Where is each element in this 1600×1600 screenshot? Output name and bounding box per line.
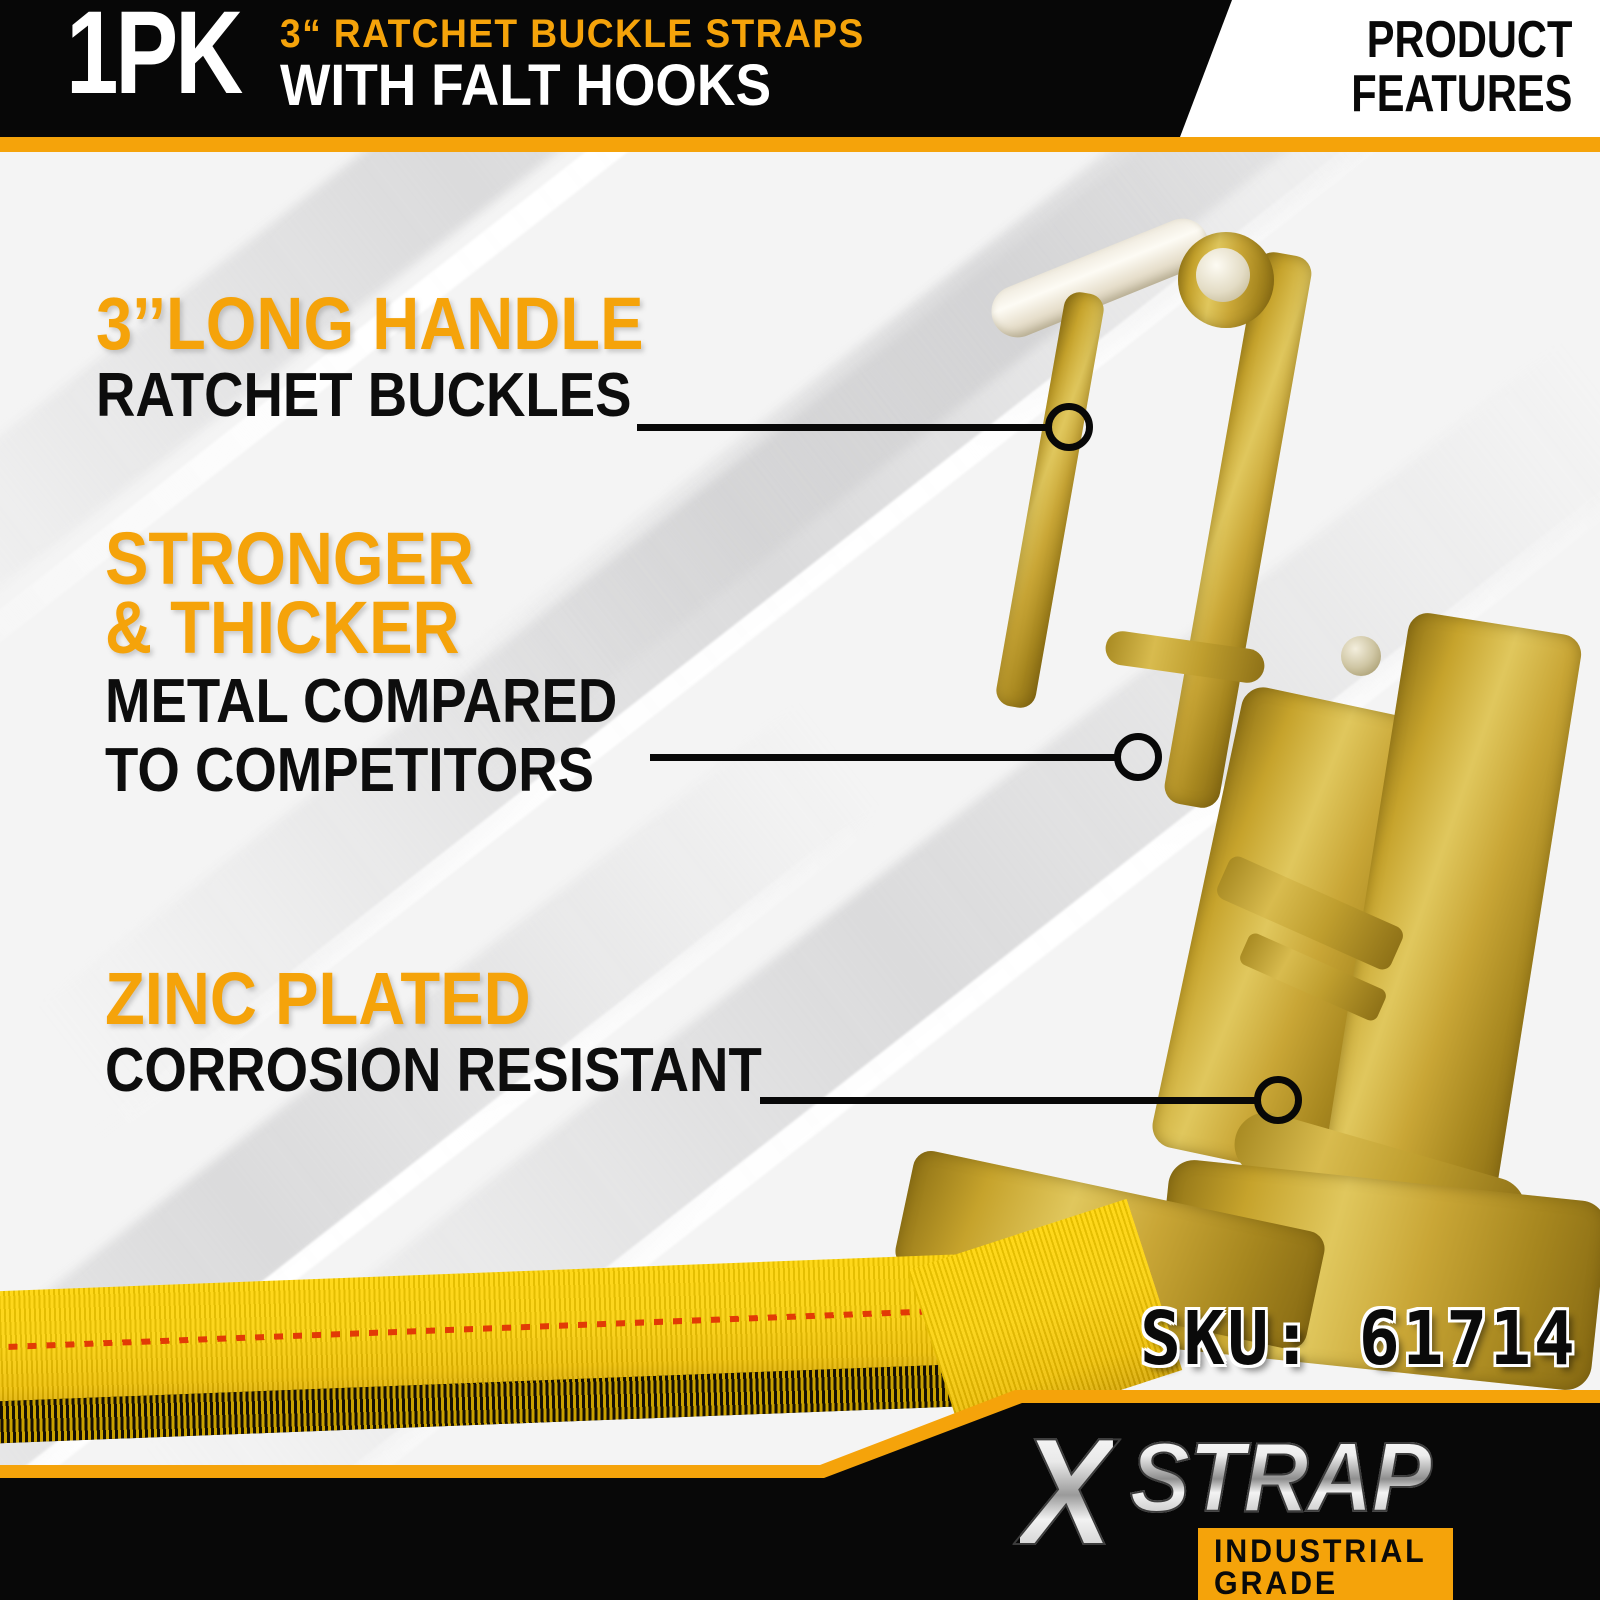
feature-subline-line-2: TO COMPETITORS	[105, 742, 617, 801]
feature-block-long-handle: 3’’LONG HANDLE RATCHET BUCKLES	[96, 290, 718, 426]
callout-leader-line	[637, 424, 1049, 431]
feature-subline: RATCHET BUCKLES	[96, 367, 644, 426]
feature-headline: ZINC PLATED	[105, 965, 762, 1034]
header-section-label-line-1: PRODUCT	[1351, 14, 1572, 68]
footer-brand-band: X STRAP INDUSTRIAL GRADE	[0, 1390, 1600, 1600]
feature-subline: CORROSION RESISTANT	[105, 1042, 762, 1101]
callout-leader-line	[760, 1097, 1260, 1104]
logo-tagline-bar: INDUSTRIAL GRADE	[1198, 1528, 1453, 1600]
header-section-label-line-2: FEATURES	[1351, 68, 1572, 122]
header-bar: 1PK 3“ RATCHET BUCKLE STRAPS WITH FALT H…	[0, 0, 1600, 137]
feature-headline-line-2: & THICKER	[105, 594, 617, 663]
header-section-label: PRODUCT FEATURES	[1296, 14, 1572, 121]
header-title-line-2: WITH FALT HOOKS	[280, 57, 858, 115]
header-title-line-1: 3“ RATCHET BUCKLE STRAPS	[280, 13, 865, 55]
sku-label: SKU: 61714	[1141, 1296, 1578, 1382]
feature-subline-line-1: METAL COMPARED	[105, 673, 617, 732]
header-orange-rule	[0, 137, 1600, 152]
pack-quantity-badge: 1PK	[66, 0, 240, 112]
logo-x-mark: X	[1020, 1416, 1113, 1568]
feature-headline-line-1: STRONGER	[105, 525, 617, 594]
feature-headline: 3’’LONG HANDLE	[96, 290, 644, 359]
logo-wordmark: STRAP	[1130, 1428, 1431, 1526]
logo-tagline-text: INDUSTRIAL GRADE	[1214, 1535, 1426, 1599]
callout-target-ring	[1114, 733, 1162, 781]
header-title-block: 3“ RATCHET BUCKLE STRAPS WITH FALT HOOKS	[280, 13, 909, 115]
callout-target-ring	[1045, 403, 1093, 451]
feature-block-zinc-plated: ZINC PLATED CORROSION RESISTANT	[105, 965, 851, 1101]
callout-leader-line	[650, 754, 1120, 761]
feature-block-stronger-thicker: STRONGER & THICKER METAL COMPARED TO COM…	[105, 525, 687, 800]
callout-target-ring	[1254, 1076, 1302, 1124]
